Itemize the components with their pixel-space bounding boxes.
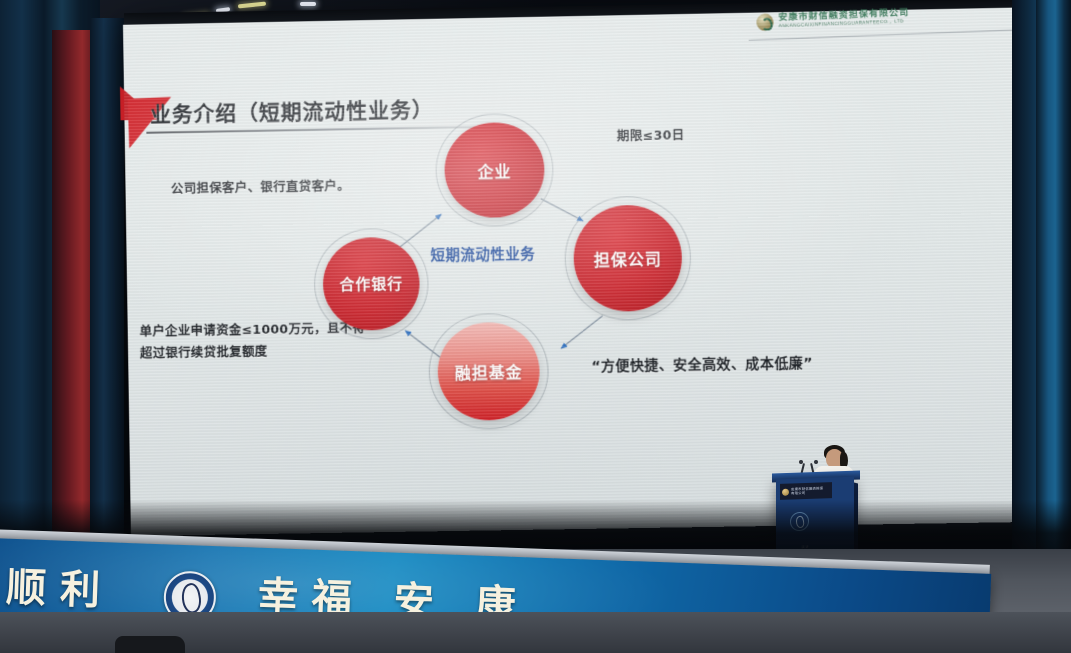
foreground-object	[115, 636, 185, 653]
diagram-node-guarantee-fund[interactable]: 融担基金	[437, 322, 540, 421]
podium-logo-icon	[782, 488, 789, 495]
slide-title: 业务介绍（短期流动性业务）	[150, 94, 434, 129]
microphone-head-icon	[799, 460, 803, 464]
stage-scene: 安康市财信融资担保有限公司 ANKANGCAIXINFINANCINGGUARA…	[0, 0, 1071, 653]
podium-name-plate: 安康市财信融资担保 有限公司	[780, 482, 832, 500]
note-top-left: 公司担保客户、银行直贷客户。	[171, 175, 350, 200]
stage-light	[300, 2, 316, 6]
note-slogan-quote: “方便快捷、安全高效、成本低廉”	[591, 353, 813, 378]
microphone-head-icon	[814, 460, 818, 464]
presentation-slide: 安康市财信融资担保有限公司 ANKANGCAIXINFINANCINGGUARA…	[123, 7, 1047, 540]
logo-mark-icon	[756, 13, 774, 31]
diagram-node-guarantee-company[interactable]: 担保公司	[573, 204, 683, 312]
stage-curtain-left-inner	[90, 18, 124, 570]
banner-text-left: 顺利	[5, 555, 115, 617]
node-ring	[564, 195, 692, 321]
podium-company-line2: 有限公司	[791, 490, 823, 495]
diagram-node-enterprise[interactable]: 企业	[444, 122, 545, 219]
projection-screen: 安康市财信融资担保有限公司 ANKANGCAIXINFINANCINGGUARA…	[123, 7, 1047, 540]
company-logo: 安康市财信融资担保有限公司 ANKANGCAIXINFINANCINGGUARA…	[756, 8, 910, 31]
diagram-node-partner-bank[interactable]: 合作银行	[322, 237, 420, 331]
node-ring	[435, 113, 554, 228]
note-term-limit: 期限≤30日	[617, 124, 685, 147]
node-ring	[428, 313, 549, 431]
logo-divider	[749, 28, 1051, 41]
node-ring	[313, 228, 429, 340]
diagram-center-label: 短期流动性业务	[424, 245, 542, 268]
